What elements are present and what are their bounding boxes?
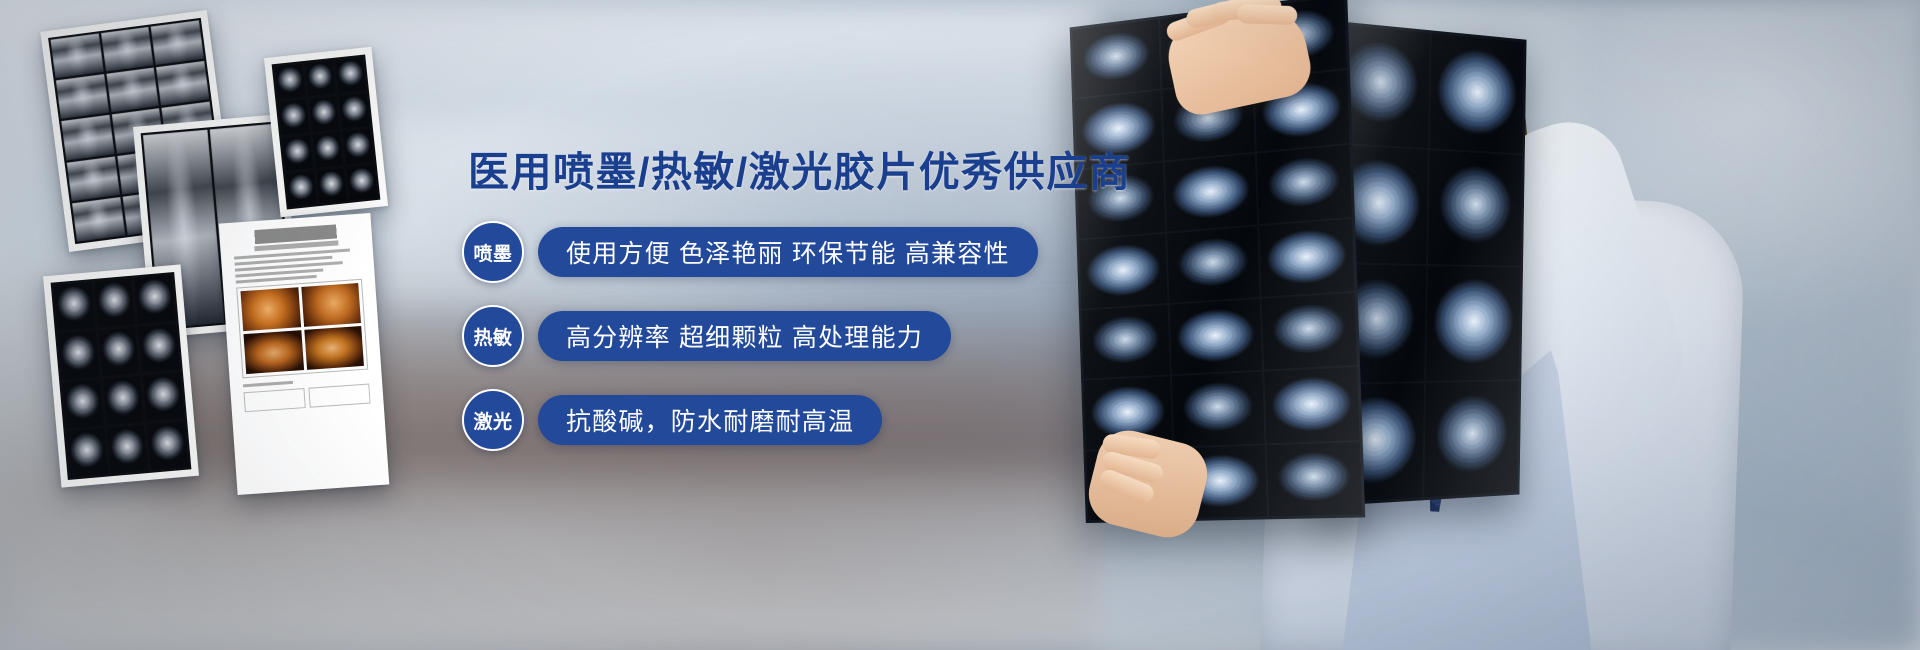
- feature-row-inkjet: 喷墨 使用方便 色泽艳丽 环保节能 高兼容性: [462, 221, 1282, 283]
- feature-pill-laser[interactable]: 抗酸碱，防水耐磨耐高温: [538, 395, 882, 445]
- page-title: 医用喷墨/热敏/激光胶片优秀供应商: [468, 150, 1282, 195]
- feature-pill-inkjet[interactable]: 使用方便 色泽艳丽 环保节能 高兼容性: [538, 227, 1038, 277]
- badge-inkjet[interactable]: 喷墨: [462, 221, 524, 283]
- badge-thermal[interactable]: 热敏: [462, 305, 524, 367]
- feature-pill-thermal[interactable]: 高分辨率 超细颗粒 高处理能力: [538, 311, 951, 361]
- feature-row-laser: 激光 抗酸碱，防水耐磨耐高温: [462, 389, 1282, 451]
- feature-row-thermal: 热敏 高分辨率 超细颗粒 高处理能力: [462, 305, 1282, 367]
- medical-film-banner: 医用喷墨/热敏/激光胶片优秀供应商 喷墨 使用方便 色泽艳丽 环保节能 高兼容性…: [0, 0, 1920, 650]
- banner-content: 医用喷墨/热敏/激光胶片优秀供应商 喷墨 使用方便 色泽艳丽 环保节能 高兼容性…: [462, 150, 1282, 473]
- badge-laser[interactable]: 激光: [462, 389, 524, 451]
